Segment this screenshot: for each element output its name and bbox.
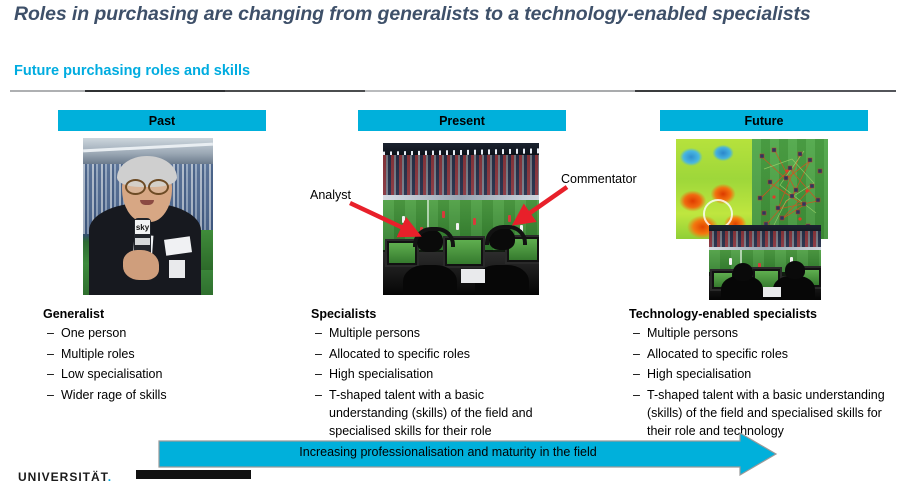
column-heading-present: Specialists: [311, 307, 561, 321]
analyst-head: [733, 263, 753, 281]
pass-network-svg: [752, 139, 828, 239]
list-item-label: T-shaped talent with a basic understandi…: [647, 388, 885, 438]
column-header-future: Future: [660, 110, 868, 131]
arena-crowd: [383, 155, 539, 197]
footer-logo: UNIVERSITÄT.: [18, 470, 112, 484]
list-item: –Multiple persons: [629, 324, 897, 342]
column-header-present-label: Present: [439, 114, 485, 128]
analyst-shoulders: [403, 265, 457, 295]
annotation-analyst: Analyst: [310, 188, 351, 202]
list-item: –Multiple roles: [43, 345, 293, 363]
desk-papers: [461, 269, 485, 283]
pitch-player: [442, 211, 445, 218]
column-header-present: Present: [358, 110, 566, 131]
photo-future-analytics: [676, 139, 828, 239]
photo-future-commentary-box: [709, 225, 821, 300]
list-item: –High specialisation: [311, 365, 561, 383]
bullet-dash: –: [633, 386, 640, 404]
bullet-dash: –: [47, 386, 54, 404]
bullet-dash: –: [47, 365, 54, 383]
footer-logo-text: UNIVERSITÄT: [18, 470, 108, 484]
microphone-logo: sky: [135, 220, 150, 234]
list-item-label: Multiple persons: [329, 326, 420, 340]
bullet-dash: –: [633, 365, 640, 383]
reporter-glasses-icon: [125, 179, 169, 191]
desk-papers: [763, 287, 781, 297]
header-divider: [10, 90, 896, 92]
bullet-dash: –: [315, 365, 322, 383]
list-item-label: One person: [61, 326, 126, 340]
reporter-hand: [123, 250, 159, 280]
pass-network-graphic: [752, 139, 828, 239]
column-header-future-label: Future: [745, 114, 784, 128]
list-item-label: T-shaped talent with a basic understandi…: [329, 388, 533, 438]
pitch-player: [508, 215, 511, 222]
footer-bar: [136, 470, 251, 479]
bullet-dash: –: [633, 345, 640, 363]
column-text-past: Generalist –One person –Multiple roles –…: [43, 307, 293, 407]
list-item-label: High specialisation: [647, 367, 751, 381]
list-item: –Wider rage of skills: [43, 386, 293, 404]
bullet-list-present: –Multiple persons –Allocated to specific…: [311, 324, 561, 440]
heatmap-graphic: [676, 139, 752, 239]
annotation-commentator: Commentator: [561, 172, 637, 186]
list-item: –One person: [43, 324, 293, 342]
list-item-label: Multiple roles: [61, 347, 135, 361]
list-item-label: Allocated to specific roles: [329, 347, 470, 361]
footer-logo-accent: .: [108, 470, 112, 484]
suit-badge: [169, 260, 185, 278]
maturity-arrow-label: Increasing professionalisation and matur…: [158, 440, 738, 463]
page-subtitle: Future purchasing roles and skills: [14, 63, 250, 79]
page-title: Roles in purchasing are changing from ge…: [14, 2, 886, 28]
pitch-player: [729, 258, 732, 265]
column-header-past: Past: [58, 110, 266, 131]
list-item: –High specialisation: [629, 365, 897, 383]
pitch-player: [402, 216, 405, 223]
list-item-label: Multiple persons: [647, 326, 738, 340]
bullet-dash: –: [315, 386, 322, 404]
column-text-future: Technology-enabled specialists –Multiple…: [629, 307, 897, 443]
bullet-dash: –: [315, 345, 322, 363]
pitch-player: [456, 223, 459, 230]
list-item-label: Low specialisation: [61, 367, 162, 381]
bullet-dash: –: [633, 324, 640, 342]
bullet-dash: –: [47, 324, 54, 342]
column-header-past-label: Past: [149, 114, 175, 128]
photo-present-commentary-box: [383, 143, 539, 295]
column-heading-past: Generalist: [43, 307, 293, 321]
bullet-list-future: –Multiple persons –Allocated to specific…: [629, 324, 897, 440]
list-item: –Allocated to specific roles: [311, 345, 561, 363]
bullet-dash: –: [315, 324, 322, 342]
list-item: –Multiple persons: [311, 324, 561, 342]
bullet-dash: –: [47, 345, 54, 363]
list-item: –Allocated to specific roles: [629, 345, 897, 363]
photo-past-reporter: sky: [83, 138, 213, 295]
column-heading-future: Technology-enabled specialists: [629, 307, 897, 321]
commentator-head: [785, 261, 805, 279]
microphone-sublabel: [135, 238, 150, 245]
pitch-player: [473, 218, 476, 225]
column-text-present: Specialists –Multiple persons –Allocated…: [311, 307, 561, 443]
list-item-label: Wider rage of skills: [61, 388, 167, 402]
list-item-label: Allocated to specific roles: [647, 347, 788, 361]
list-item-label: High specialisation: [329, 367, 433, 381]
list-item: –Low specialisation: [43, 365, 293, 383]
bullet-list-past: –One person –Multiple roles –Low special…: [43, 324, 293, 404]
